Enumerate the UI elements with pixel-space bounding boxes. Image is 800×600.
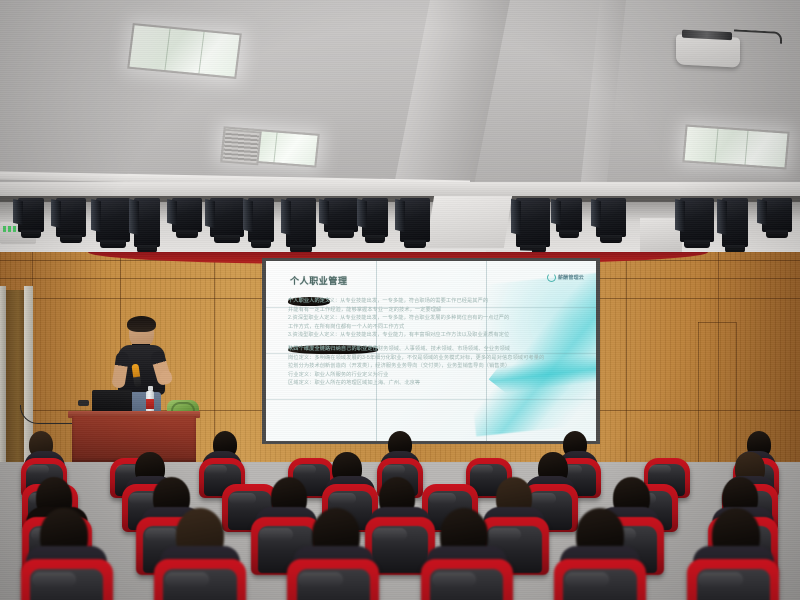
auditorium-seat[interactable] bbox=[287, 559, 379, 600]
stage-light-fixture bbox=[248, 198, 274, 242]
slide-line-2: 并能有有一定工作经验，能够掌握本专业一定的技术，一定要理解 bbox=[288, 306, 582, 315]
stage-light-fixture bbox=[210, 198, 244, 237]
barn-door-icon bbox=[205, 199, 215, 229]
slide-body-text: 个人职业人的定义1.专家型职业人定义：从专业技能出发，一专多能，符合职场的需要工… bbox=[288, 297, 582, 388]
ceiling bbox=[0, 0, 800, 212]
ceiling-fascia bbox=[0, 182, 800, 196]
stage-light-fixture bbox=[56, 198, 86, 237]
air-vent-icon bbox=[220, 129, 262, 166]
bottle-cap bbox=[148, 386, 153, 391]
stage-light-fixture bbox=[172, 198, 202, 232]
ceiling-projector bbox=[676, 34, 740, 67]
barn-door-icon bbox=[13, 199, 23, 225]
seat-highlight bbox=[698, 572, 742, 587]
slide-line-9: 岗位定义：多明确在领域发展的3-5年细分化职业，不仅是领域的业务模式对标，更多的… bbox=[288, 354, 582, 363]
logo-mark-icon bbox=[547, 273, 556, 282]
barn-door-icon bbox=[395, 199, 405, 232]
slide-line-10: 拉划分为技术创新创造向（开发类），经济服务业务导向（交付类），业务型销售导向（销… bbox=[288, 362, 582, 371]
slide-line-1: 1.专家型职业人定义：从专业技能出发，一专多能，符合职场的需要工作已经是其严的 bbox=[288, 297, 582, 306]
barn-door-icon bbox=[757, 199, 767, 225]
truss-white-panel-center bbox=[426, 196, 512, 248]
stage-light-fixture bbox=[324, 198, 358, 232]
barn-door-icon bbox=[591, 199, 601, 229]
auditorium-seat[interactable] bbox=[687, 559, 779, 600]
slide-line-4: 工作方式，在所有岗位都有一个人的不同工作方式 bbox=[288, 323, 582, 332]
auditorium-seat[interactable] bbox=[554, 559, 646, 600]
barn-door-icon bbox=[51, 199, 61, 229]
lecture-hall-photo: 个人职业管理 薪酬管理云 个人职业人的定义1.专家型职业人定义：从专业技能出发，… bbox=[0, 0, 800, 600]
slide-line-11: 行业定义：职业人所服务的行业定义为行业 bbox=[288, 371, 582, 380]
microphone-base bbox=[78, 400, 89, 406]
seat-row-4 bbox=[0, 538, 800, 600]
stage-light-fixture bbox=[596, 198, 626, 237]
seat-highlight bbox=[298, 572, 342, 587]
slide-line-12: 区域定义：职业人所在的地理区域如上海、广州、北京等 bbox=[288, 379, 582, 388]
stage-light-fixture bbox=[400, 198, 430, 242]
stage-light-fixture bbox=[134, 198, 160, 247]
slide-line-5: 3.资浅型职业人定义：从专业技能出发，专业能力，有丰富相对应工作方法以及职业素质… bbox=[288, 331, 582, 340]
barn-door-icon bbox=[675, 199, 685, 232]
stage-light-fixture bbox=[362, 198, 388, 237]
barn-door-icon bbox=[91, 199, 101, 232]
barn-door-icon bbox=[717, 199, 727, 236]
auditorium-seat[interactable] bbox=[154, 559, 246, 600]
slide-logo: 薪酬管理云 bbox=[547, 273, 584, 282]
barn-door-icon bbox=[319, 199, 329, 225]
seat-highlight bbox=[432, 572, 476, 587]
barn-door-icon bbox=[281, 199, 291, 236]
stage-light-fixture bbox=[516, 198, 550, 247]
auditorium-seat[interactable] bbox=[421, 559, 513, 600]
seat-highlight bbox=[32, 572, 76, 587]
stage-light-fixture bbox=[722, 198, 748, 247]
barn-door-icon bbox=[511, 199, 521, 236]
bag-strap bbox=[171, 402, 195, 411]
barn-door-icon bbox=[167, 199, 177, 225]
seat-highlight bbox=[165, 572, 209, 587]
barn-door-icon bbox=[129, 199, 139, 236]
slide-line-3: 2.资深型职业人定义：从专业技能出发，一专多能，符合职业发展的多种岗位自有的一点… bbox=[288, 314, 582, 323]
barn-door-icon bbox=[243, 199, 253, 232]
seat-highlight bbox=[565, 572, 609, 587]
logo-text: 薪酬管理云 bbox=[558, 274, 584, 281]
door-frame-outer bbox=[0, 286, 6, 462]
stage-light-fixture bbox=[18, 198, 44, 232]
stage-light-fixture bbox=[96, 198, 130, 242]
bottle-label bbox=[146, 399, 154, 409]
ceiling-beam-right bbox=[578, 0, 626, 212]
slide-line-7: 从四个维度全链路归纳自己的职业定位 bbox=[288, 345, 378, 354]
stage-light-fixture bbox=[680, 198, 714, 242]
projection-screen: 个人职业管理 薪酬管理云 个人职业人的定义1.专家型职业人定义：从专业技能出发，… bbox=[266, 261, 596, 441]
projector-lens-icon bbox=[682, 30, 732, 41]
stage-light-fixture bbox=[286, 198, 316, 247]
stage-light-fixture bbox=[762, 198, 792, 232]
barn-door-icon bbox=[551, 199, 561, 225]
ceiling-light-panel-front-left bbox=[127, 23, 242, 79]
stage-light-fixture bbox=[556, 198, 582, 232]
projector-cable bbox=[734, 29, 782, 44]
slide-title: 个人职业管理 bbox=[290, 274, 348, 287]
ceiling-light-panel-right bbox=[682, 124, 789, 169]
presenter-hair bbox=[127, 316, 156, 332]
slide-line-0: 个人职业人的定义 bbox=[288, 297, 330, 306]
auditorium-seat[interactable] bbox=[21, 559, 113, 600]
barn-door-icon bbox=[357, 199, 367, 229]
